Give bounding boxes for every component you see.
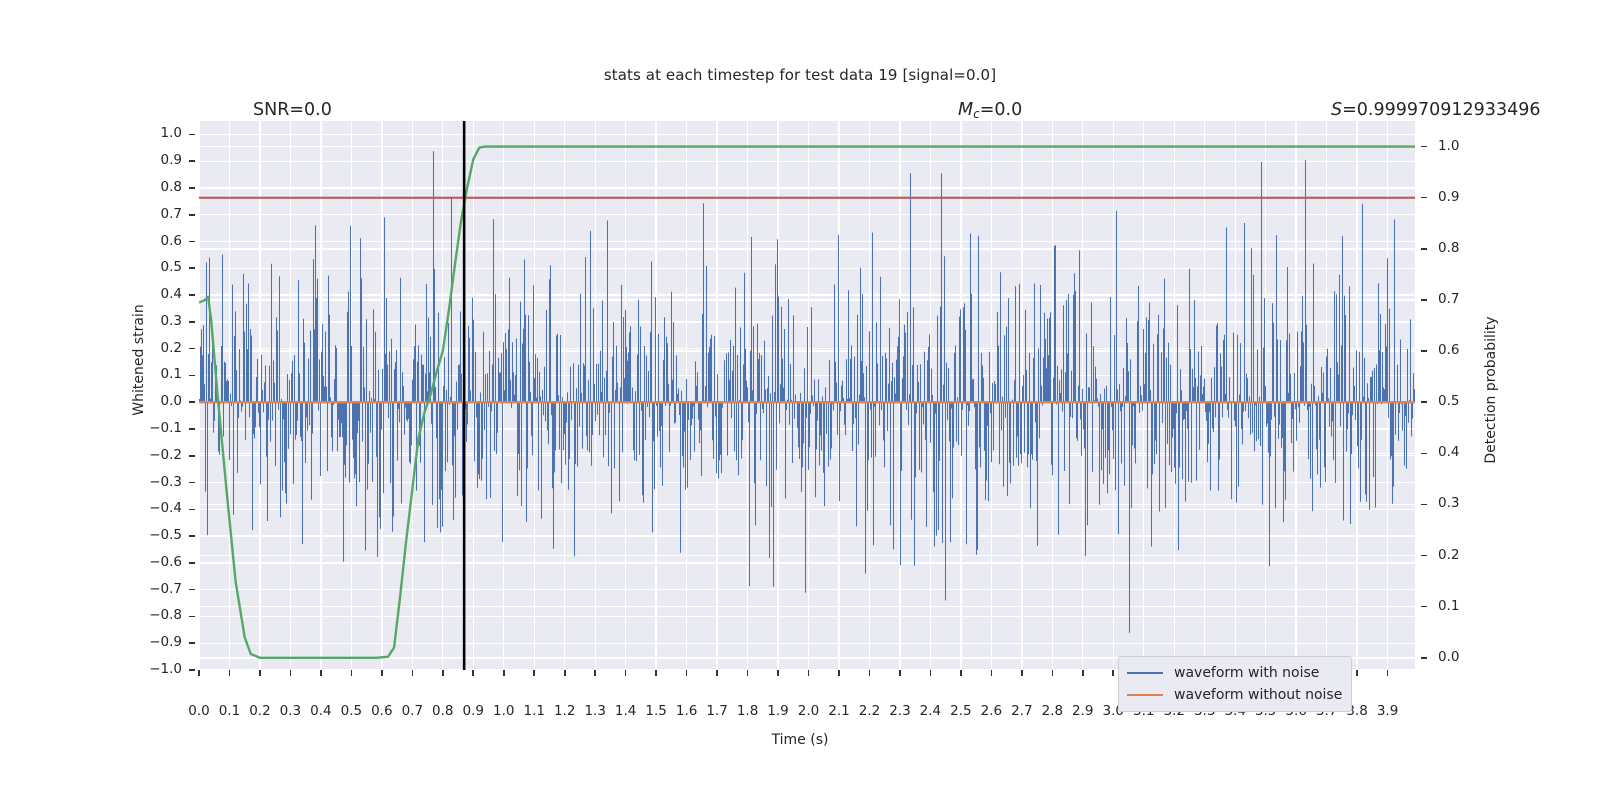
x-axis-tick-mark bbox=[198, 670, 200, 676]
x-axis-tick-mark bbox=[564, 670, 566, 676]
annotation-chirp-mass-subscript: c bbox=[973, 107, 980, 121]
y-axis-left-tick-mark bbox=[189, 428, 195, 430]
x-axis-title: Time (s) bbox=[0, 732, 1600, 748]
x-axis-tick-mark bbox=[259, 670, 261, 676]
annotation-chirp-mass-symbol: M bbox=[958, 100, 973, 120]
legend-label: waveform with noise bbox=[1174, 665, 1319, 681]
y-axis-left-tick-label: −0.9 bbox=[110, 634, 182, 650]
y-axis-right-tick-mark bbox=[1421, 197, 1427, 199]
y-axis-left-tick-mark bbox=[189, 348, 195, 350]
y-axis-left-tick-mark bbox=[189, 134, 195, 136]
x-axis-tick-mark bbox=[1356, 670, 1358, 676]
legend-color-swatch bbox=[1127, 694, 1163, 696]
y-axis-left-tick-mark bbox=[189, 241, 195, 243]
x-axis-tick-mark bbox=[1082, 670, 1084, 676]
y-axis-left-tick-mark bbox=[189, 562, 195, 564]
annotation-snr: SNR=0.0 bbox=[253, 100, 332, 120]
x-axis-tick-mark bbox=[960, 670, 962, 676]
annotation-score-value: =0.999970912933496 bbox=[1342, 100, 1540, 120]
x-axis-tick-mark bbox=[655, 670, 657, 676]
legend-item[interactable]: waveform without noise bbox=[1127, 684, 1342, 706]
chart-legend: waveform with noisewaveform without nois… bbox=[1118, 656, 1352, 712]
y-axis-right-tick-mark bbox=[1421, 504, 1427, 506]
legend-item[interactable]: waveform with noise bbox=[1127, 662, 1342, 684]
x-axis-tick-mark bbox=[1387, 670, 1389, 676]
x-axis-tick-mark bbox=[381, 670, 383, 676]
y-axis-left-tick-label: 0.8 bbox=[110, 179, 182, 195]
y-axis-right-tick-label: 0.1 bbox=[1438, 598, 1459, 614]
x-axis-tick-mark bbox=[229, 670, 231, 676]
y-axis-right-tick-label: 0.3 bbox=[1438, 495, 1459, 511]
x-axis-tick-mark bbox=[869, 670, 871, 676]
y-axis-right-title: Detection probability bbox=[1483, 270, 1499, 510]
y-axis-right-tick-label: 0.8 bbox=[1438, 240, 1459, 256]
y-axis-right-tick-mark bbox=[1421, 248, 1427, 250]
x-axis-tick-mark bbox=[594, 670, 596, 676]
x-axis-tick-mark bbox=[838, 670, 840, 676]
x-axis-tick-mark bbox=[533, 670, 535, 676]
y-axis-left-title: Whitened strain bbox=[131, 240, 147, 480]
y-axis-right-tick-label: 0.7 bbox=[1438, 291, 1459, 307]
x-axis-tick-mark bbox=[686, 670, 688, 676]
x-axis-tick-mark bbox=[351, 670, 353, 676]
y-axis-right-tick-label: 0.6 bbox=[1438, 342, 1459, 358]
y-axis-right-tick-mark bbox=[1421, 453, 1427, 455]
y-axis-right-tick-mark bbox=[1421, 555, 1427, 557]
waveform-with-noise-series bbox=[200, 151, 1415, 633]
y-axis-left-tick-mark bbox=[189, 616, 195, 618]
x-axis-tick-mark bbox=[442, 670, 444, 676]
x-axis-tick-mark bbox=[899, 670, 901, 676]
y-axis-left-tick-mark bbox=[189, 401, 195, 403]
y-axis-left-tick-label: 1.0 bbox=[110, 125, 182, 141]
y-axis-right-tick-label: 1.0 bbox=[1438, 138, 1459, 154]
y-axis-right-tick-mark bbox=[1421, 606, 1427, 608]
y-axis-left-tick-mark bbox=[189, 589, 195, 591]
y-axis-left-tick-mark bbox=[189, 669, 195, 671]
chart-figure: stats at each timestep for test data 19 … bbox=[0, 0, 1600, 800]
x-axis-tick-mark bbox=[930, 670, 932, 676]
y-axis-left-tick-mark bbox=[189, 294, 195, 296]
legend-label: waveform without noise bbox=[1174, 687, 1342, 703]
y-axis-left-tick-mark bbox=[189, 482, 195, 484]
annotation-chirp-mass: Mc=0.0 bbox=[958, 100, 1022, 121]
x-axis-tick-mark bbox=[1052, 670, 1054, 676]
chart-title: stats at each timestep for test data 19 … bbox=[0, 66, 1600, 84]
x-axis-tick-mark bbox=[747, 670, 749, 676]
y-axis-right-tick-label: 0.0 bbox=[1438, 649, 1459, 665]
x-axis-tick-mark bbox=[503, 670, 505, 676]
y-axis-left-tick-mark bbox=[189, 214, 195, 216]
y-axis-right-tick-mark bbox=[1421, 146, 1427, 148]
x-axis-tick-mark bbox=[1021, 670, 1023, 676]
x-axis-tick-mark bbox=[625, 670, 627, 676]
y-axis-right-tick-mark bbox=[1421, 657, 1427, 659]
y-axis-right-tick-label: 0.4 bbox=[1438, 444, 1459, 460]
y-axis-right-tick-mark bbox=[1421, 401, 1427, 403]
y-axis-left-tick-label: 0.7 bbox=[110, 206, 182, 222]
y-axis-left-tick-mark bbox=[189, 455, 195, 457]
y-axis-right-tick-label: 0.9 bbox=[1438, 189, 1459, 205]
y-axis-right-tick-label: 0.2 bbox=[1438, 547, 1459, 563]
noise-waveform-path bbox=[200, 151, 1415, 633]
x-axis-tick-mark bbox=[320, 670, 322, 676]
y-axis-left-tick-mark bbox=[189, 321, 195, 323]
y-axis-left-tick-mark bbox=[189, 642, 195, 644]
x-axis-tick-label: 3.9 bbox=[1358, 703, 1418, 719]
y-axis-left-tick-mark bbox=[189, 509, 195, 511]
x-axis-tick-mark bbox=[412, 670, 414, 676]
x-axis-tick-mark bbox=[991, 670, 993, 676]
data-layer bbox=[199, 121, 1415, 670]
annotation-score-symbol: S bbox=[1331, 100, 1342, 120]
annotation-score: S=0.999970912933496 bbox=[1331, 100, 1540, 120]
y-axis-left-tick-mark bbox=[189, 375, 195, 377]
y-axis-right-tick-mark bbox=[1421, 350, 1427, 352]
y-axis-left-tick-label: −1.0 bbox=[110, 661, 182, 677]
x-axis-tick-mark bbox=[777, 670, 779, 676]
y-axis-left-tick-mark bbox=[189, 160, 195, 162]
y-axis-left-tick-mark bbox=[189, 187, 195, 189]
annotation-snr-text: SNR=0.0 bbox=[253, 100, 332, 120]
y-axis-left-tick-label: −0.7 bbox=[110, 581, 182, 597]
y-axis-right-tick-mark bbox=[1421, 299, 1427, 301]
x-axis-tick-mark bbox=[472, 670, 474, 676]
legend-color-swatch bbox=[1127, 672, 1163, 674]
x-axis-tick-mark bbox=[290, 670, 292, 676]
y-axis-left-tick-label: 0.9 bbox=[110, 152, 182, 168]
y-axis-left-tick-mark bbox=[189, 535, 195, 537]
annotation-chirp-mass-value: =0.0 bbox=[980, 100, 1023, 120]
y-axis-left-tick-label: −0.8 bbox=[110, 607, 182, 623]
y-axis-left-tick-mark bbox=[189, 267, 195, 269]
x-axis-tick-mark bbox=[1112, 670, 1114, 676]
y-axis-left-tick-label: −0.5 bbox=[110, 527, 182, 543]
plot-area bbox=[199, 121, 1415, 670]
x-axis-tick-mark bbox=[716, 670, 718, 676]
y-axis-right-tick-label: 0.5 bbox=[1438, 393, 1459, 409]
x-axis-tick-mark bbox=[808, 670, 810, 676]
y-axis-left-tick-label: −0.6 bbox=[110, 554, 182, 570]
y-axis-left-tick-label: −0.4 bbox=[110, 500, 182, 516]
